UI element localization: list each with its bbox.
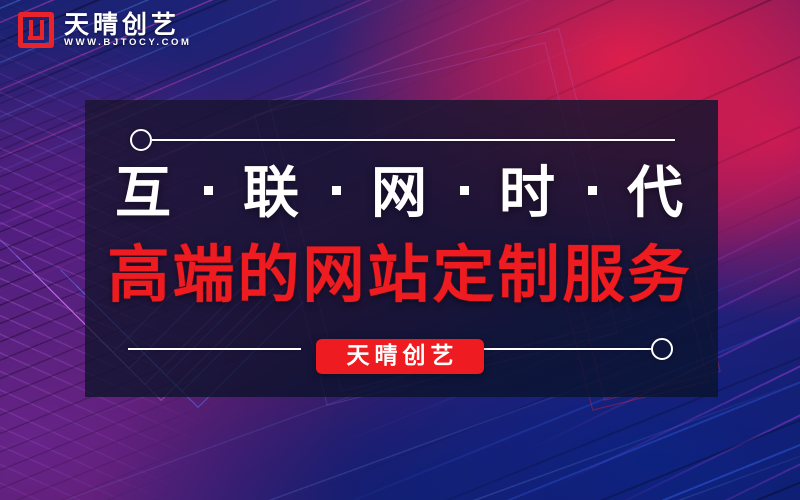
brand-badge[interactable]: 天晴创艺	[316, 339, 484, 374]
bottom-divider-line-left	[128, 348, 301, 351]
promo-banner: 天晴创艺 WWW.BJTOCY.COM 互 联 网 时 代 高端的网站定制服务 …	[0, 0, 800, 500]
headline-char-2: 联	[243, 161, 301, 226]
top-divider-line	[152, 139, 675, 142]
headline-separator-dot-1	[204, 186, 213, 195]
circle-outline-icon-left	[130, 129, 152, 151]
top-divider-row	[130, 129, 675, 151]
logo-website-url: WWW.BJTOCY.COM	[64, 38, 192, 48]
circle-outline-icon-right	[651, 338, 673, 360]
headline-separator-dot-2	[332, 186, 341, 195]
bottom-divider-line-right	[479, 348, 652, 351]
headline-char-3: 网	[371, 161, 429, 226]
brand-badge-label: 天晴创艺	[342, 345, 459, 368]
headline-primary: 互 联 网 时 代	[0, 166, 800, 222]
headline-separator-dot-4	[588, 186, 597, 195]
brand-logo[interactable]: 天晴创艺 WWW.BJTOCY.COM	[18, 12, 192, 48]
logo-company-name: 天晴创艺	[64, 12, 192, 37]
headline-char-1: 互	[115, 161, 173, 226]
headline-secondary: 高端的网站定制服务	[0, 244, 800, 306]
bracket-mark-icon	[18, 12, 54, 48]
headline-separator-dot-3	[460, 186, 469, 195]
headline-char-4: 时	[499, 161, 557, 226]
headline-char-5: 代	[627, 161, 685, 226]
logo-text-group: 天晴创艺 WWW.BJTOCY.COM	[64, 12, 192, 48]
